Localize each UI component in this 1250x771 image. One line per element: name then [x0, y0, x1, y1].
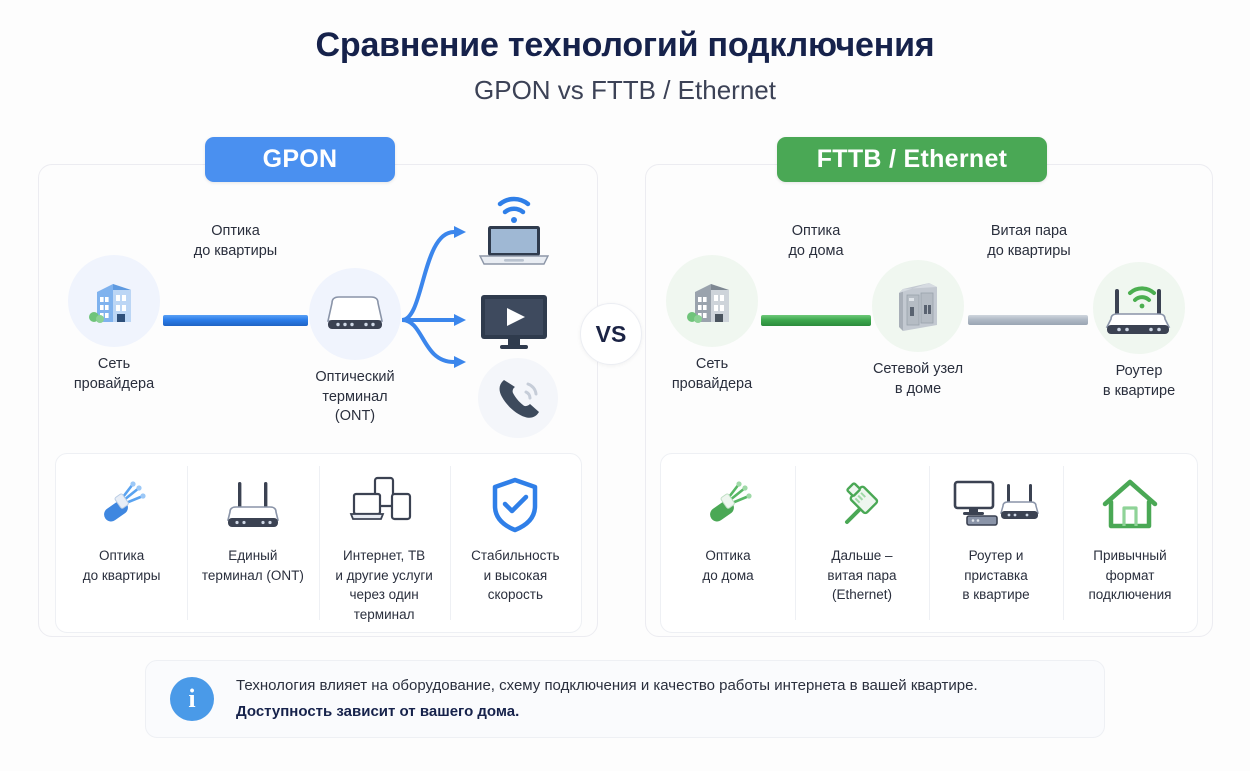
gpon-card-2: Единый терминал (ONT) — [187, 454, 318, 632]
gpon-branch-arrows — [398, 210, 478, 380]
note-line-1: Технология влияет на оборудование, схему… — [236, 675, 978, 698]
gpon-card-1: Оптика до квартиры — [56, 454, 187, 632]
footer-note: i Технология влияет на оборудование, схе… — [145, 660, 1105, 738]
fttb-node-provider-network: Сеть провайдера — [666, 255, 758, 394]
card-text: Роутер и приставка в квартире — [956, 546, 1035, 605]
page-title: Сравнение технологий подключения — [0, 26, 1250, 65]
gpon-endpoint-phone — [478, 358, 558, 438]
ethernet-plug-icon — [833, 472, 891, 538]
server-cabinet-icon — [872, 260, 964, 352]
note-text: Технология влияет на оборудование, схему… — [236, 675, 978, 724]
tv-router-icon — [953, 472, 1039, 538]
ont-modem-icon — [309, 268, 401, 360]
gpon-card-3: Интернет, ТВ и другие услуги через один … — [319, 454, 450, 632]
gpon-optic-cable — [163, 315, 308, 326]
office-building-icon — [68, 255, 160, 347]
card-text: Оптика до квартиры — [77, 546, 167, 585]
gpon-optic-label: Оптика до квартиры — [163, 222, 308, 261]
card-text: Интернет, ТВ и другие услуги через один … — [329, 546, 438, 624]
fttb-badge: FTTB / Ethernet — [777, 137, 1047, 182]
fttb-card-2: Дальше – витая пара (Ethernet) — [795, 454, 929, 632]
router-icon — [220, 472, 286, 538]
node-label: Сетевой узел в доме — [872, 360, 964, 399]
fttb-feature-cards: Оптика до дома Дальше – витая пара (Ethe… — [660, 453, 1198, 633]
gpon-feature-cards: Оптика до квартиры Единый терминал (ONT) — [55, 453, 582, 633]
card-text: Дальше – витая пара (Ethernet) — [821, 546, 902, 605]
fttb-twisted-pair-label: Витая пара до квартиры — [965, 222, 1093, 261]
multi-devices-icon — [348, 472, 420, 538]
note-line-2: Доступность зависит от вашего дома. — [236, 701, 978, 724]
infographic-root: Сравнение технологий подключения GPON vs… — [0, 0, 1250, 771]
gpon-badge: GPON — [205, 137, 395, 182]
fiber-cable-icon — [93, 472, 151, 538]
home-outline-icon — [1100, 472, 1160, 538]
card-text: Оптика до дома — [696, 546, 759, 585]
fttb-optic-label: Оптика до дома — [756, 222, 876, 261]
vs-badge: VS — [580, 303, 642, 365]
fttb-twisted-pair-cable — [968, 315, 1088, 325]
page-subtitle: GPON vs FTTB / Ethernet — [0, 75, 1250, 106]
card-text: Единый терминал (ONT) — [196, 546, 310, 585]
node-label: Роутер в квартире — [1093, 362, 1185, 401]
tv-play-icon — [478, 293, 550, 353]
fttb-node-network-node: Сетевой узел в доме — [872, 260, 964, 399]
fiber-cable-icon — [699, 472, 757, 538]
gpon-endpoint-laptop — [470, 190, 558, 273]
gpon-card-4: Стабильность и высокая скорость — [450, 454, 581, 632]
fttb-card-1: Оптика до дома — [661, 454, 795, 632]
office-building-icon — [666, 255, 758, 347]
laptop-wifi-icon — [470, 190, 558, 268]
header: Сравнение технологий подключения GPON vs… — [0, 26, 1250, 106]
card-text: Привычный формат подключения — [1082, 546, 1177, 605]
gpon-endpoint-tv — [478, 293, 550, 358]
info-icon: i — [170, 677, 214, 721]
telephone-icon — [478, 358, 558, 438]
card-text: Стабильность и высокая скорость — [465, 546, 565, 605]
node-label: Оптический терминал (ONT) — [309, 368, 401, 427]
fttb-optic-cable — [761, 315, 871, 326]
node-label: Сеть провайдера — [666, 355, 758, 394]
fttb-card-3: Роутер и приставка в квартире — [929, 454, 1063, 632]
wifi-router-icon — [1093, 262, 1185, 354]
fttb-node-apartment-router: Роутер в квартире — [1093, 262, 1185, 401]
fttb-card-4: Привычный формат подключения — [1063, 454, 1197, 632]
gpon-node-optical-terminal: Оптический терминал (ONT) — [309, 268, 401, 427]
node-label: Сеть провайдера — [68, 355, 160, 394]
gpon-node-provider-network: Сеть провайдера — [68, 255, 160, 394]
shield-check-icon — [489, 472, 541, 538]
